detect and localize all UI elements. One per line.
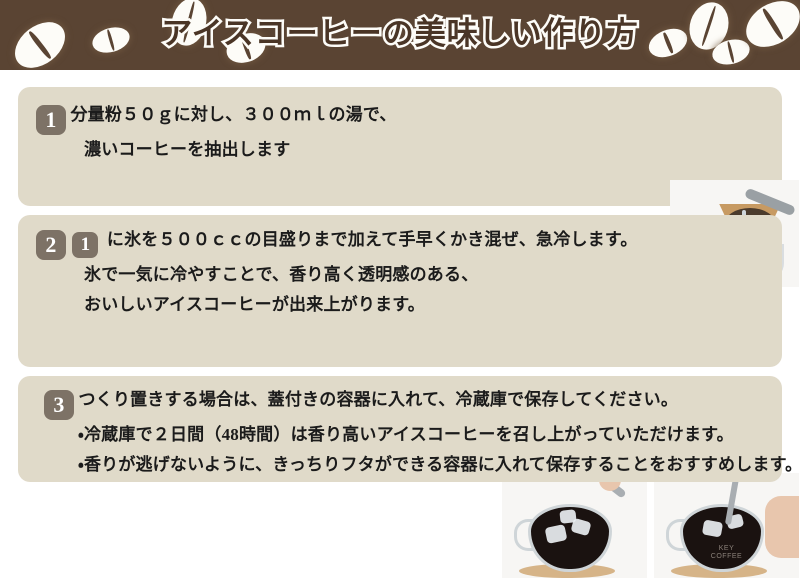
iced-coffee-instructions-page: アイスコーヒーの美味しい作り方 1 分量粉５０ｇに対し、３００ｍｌの湯で、 濃い… [0, 0, 800, 495]
inline-reference-badge-1: 1 [72, 232, 98, 258]
server-brand-label: KEY COFFEE [711, 545, 742, 561]
step-1-line-1-text: 分量粉５０ｇに対し、３００ｍｌの湯で、 [70, 105, 396, 124]
step-2-text: 2 1 に氷を５００ｃｃの目盛りまで加えて手早くかき混ぜ、急冷します。 氷で一気… [36, 225, 638, 320]
step-3-text: 3 つくり置きする場合は、蓋付きの容器に入れて、冷蔵庫で保存してください。 ・冷… [36, 385, 800, 480]
brand-line-1: KEY [719, 545, 735, 552]
photo-adding-ice [502, 473, 647, 578]
page-title: アイスコーヒーの美味しい作り方 [0, 8, 800, 53]
step-2-line-3: おいしいアイスコーヒーが出来上がります。 [36, 290, 638, 320]
step-number-badge-3: 3 [44, 390, 74, 420]
step-panel-2: 2 1 に氷を５００ｃｃの目盛りまで加えて手早くかき混ぜ、急冷します。 氷で一気… [18, 215, 782, 367]
step-number-badge-2: 2 [36, 230, 66, 260]
step-number-badge-1: 1 [36, 105, 66, 135]
photo-stirring-coffee: KEY COFFEE [654, 473, 799, 578]
step-2-line-1: 2 1 に氷を５００ｃｃの目盛りまで加えて手早くかき混ぜ、急冷します。 [36, 225, 638, 260]
ice-cube-icon [559, 510, 576, 525]
step-3-bullet-1: ・冷蔵庫で２日間（48時間）は香り高いアイスコーヒーを召し上がっていただけます。 [36, 420, 800, 450]
step-1-text: 1 分量粉５０ｇに対し、３００ｍｌの湯で、 濃いコーヒーを抽出します [36, 100, 397, 165]
step-3-line-1-text: つくり置きする場合は、蓋付きの容器に入れて、冷蔵庫で保存してください。 [78, 390, 678, 409]
step-1-line-1: 1 分量粉５０ｇに対し、３００ｍｌの湯で、 [36, 100, 397, 135]
brand-line-2: COFFEE [711, 553, 742, 560]
hand-fingers [765, 496, 799, 558]
header-banner: アイスコーヒーの美味しい作り方 [0, 0, 800, 70]
step-2-line-1-text: に氷を５００ｃｃの目盛りまで加えて手早くかき混ぜ、急冷します。 [107, 230, 638, 249]
ice-cube-icon [702, 519, 723, 537]
step-panel-3: 3 つくり置きする場合は、蓋付きの容器に入れて、冷蔵庫で保存してください。 ・冷… [18, 376, 782, 482]
step-panel-1: 1 分量粉５０ｇに対し、３００ｍｌの湯で、 濃いコーヒーを抽出します [18, 87, 782, 206]
step-3-bullet-2: ・香りが逃げないように、きっちりフタができる容器に入れて保存することをおすすめし… [36, 450, 800, 480]
step-2-line-2: 氷で一気に冷やすことで、香り高く透明感のある、 [36, 260, 638, 290]
step-3-line-1: 3 つくり置きする場合は、蓋付きの容器に入れて、冷蔵庫で保存してください。 [36, 385, 800, 420]
step-1-line-2: 濃いコーヒーを抽出します [36, 135, 397, 165]
